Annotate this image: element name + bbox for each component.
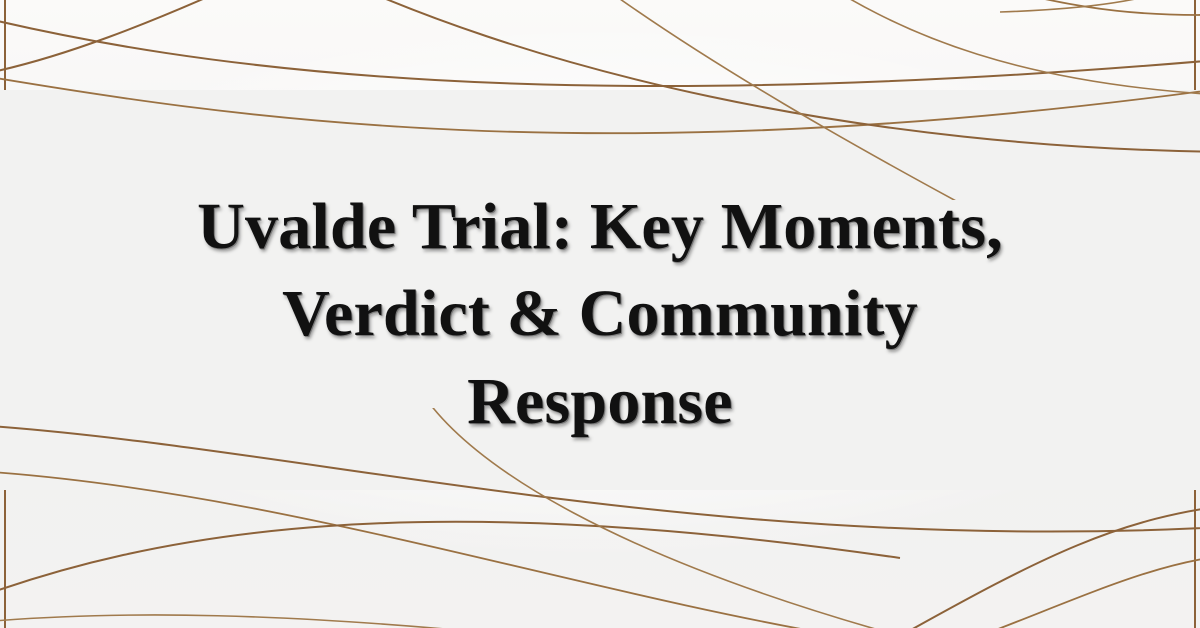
page-title: Uvalde Trial: Key Moments, Verdict & Com… [150, 183, 1050, 444]
title-container: Uvalde Trial: Key Moments, Verdict & Com… [0, 0, 1200, 628]
banner-canvas: Uvalde Trial: Key Moments, Verdict & Com… [0, 0, 1200, 628]
